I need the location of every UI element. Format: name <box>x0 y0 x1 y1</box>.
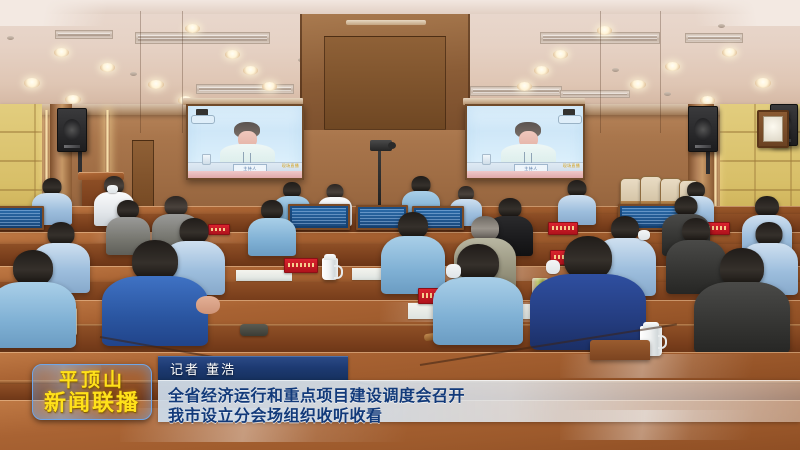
screen-bottom-band <box>467 171 583 178</box>
headline-banner: 全省经济运行和重点项目建设调度会召开 我市设立分会场组织收听收看 <box>158 380 800 422</box>
ceiling-downlight <box>243 66 258 75</box>
camera-tripod <box>378 150 381 212</box>
attendee-head <box>499 198 522 218</box>
attendee-hand <box>196 296 220 314</box>
reporter-credit-text: 记者 董浩 <box>158 359 236 378</box>
wall-panel-seam <box>600 11 601 133</box>
headline-line-2: 我市设立分会场组织收听收看 <box>168 402 383 426</box>
face-mask <box>546 260 560 274</box>
smoke-detector <box>664 92 671 96</box>
ceiling-vent <box>685 33 743 43</box>
attendee <box>692 248 792 348</box>
ceiling-downlight <box>54 48 69 57</box>
ceiling-downlight <box>148 80 164 89</box>
wall-speaker-right <box>688 106 718 152</box>
screen-microphone <box>531 153 532 163</box>
ceiling-downlight <box>534 66 549 75</box>
smoke-detector <box>130 72 137 76</box>
reporter-credit-bar: 记者 董浩 <box>158 356 348 380</box>
broadcast-frame: 主持人 现场直播 主持人 现场直播 <box>0 0 800 450</box>
chair-back[interactable] <box>590 340 650 360</box>
smoke-detector <box>718 24 725 28</box>
attendee-torso <box>694 282 790 354</box>
attendee-head <box>165 196 188 216</box>
glasses-case[interactable] <box>240 324 268 336</box>
ceiling-slant-right <box>650 0 800 26</box>
name-card <box>284 258 318 273</box>
ceiling-slant-left <box>0 0 150 26</box>
face-mask <box>107 185 118 193</box>
screen-ceiling-camera <box>563 109 575 118</box>
ceiling-downlight <box>553 50 568 59</box>
attendee-head <box>398 212 428 239</box>
screen-bottom-band <box>188 171 302 178</box>
ceiling-vent <box>196 84 294 94</box>
screen-microphone <box>243 152 244 163</box>
screen-ceiling-camera <box>196 109 208 118</box>
ceiling-downlight <box>65 95 81 104</box>
ceiling-downlight <box>630 80 646 89</box>
ceiling-downlight <box>100 63 115 72</box>
attendee-head <box>13 250 53 286</box>
projection-screen-left: 主持人 现场直播 <box>186 104 304 180</box>
attendee <box>528 236 648 344</box>
screen-microphone <box>524 152 525 163</box>
station-logo: 平顶山 新闻联播 <box>32 364 152 420</box>
center-wall-panel <box>300 14 470 130</box>
screen-microphone <box>250 153 251 163</box>
wall-panel-seam <box>140 11 141 133</box>
attendee-torso <box>0 282 76 348</box>
ceiling-downlight <box>185 24 200 33</box>
ceiling-vent <box>470 86 562 96</box>
center-panel-inner <box>324 36 446 130</box>
attendee-torso <box>102 276 208 346</box>
ceiling-downlight <box>225 50 240 59</box>
attendee-head <box>755 196 779 217</box>
ceiling-vent <box>55 30 113 39</box>
ceiling-downlight <box>517 82 532 91</box>
ceiling-downlight <box>665 62 680 71</box>
name-card <box>548 222 578 235</box>
station-logo-program: 新闻联播 <box>44 391 140 416</box>
ceiling-vent <box>135 32 270 44</box>
screen-channel-bug: 现场直播 <box>282 163 299 169</box>
wall-panel-seam <box>182 11 183 133</box>
attendee-torso <box>558 195 596 225</box>
attendee-head <box>261 200 283 220</box>
attendee <box>430 244 526 340</box>
screen-channel-bug: 现场直播 <box>563 163 580 169</box>
attendee-head <box>675 196 698 216</box>
screen-cup <box>202 154 211 165</box>
station-logo-city: 平顶山 <box>59 369 125 391</box>
ceiling-downlight <box>722 48 737 57</box>
ceiling-downlight <box>262 82 277 91</box>
attendee <box>100 240 210 340</box>
smoke-detector <box>7 36 14 40</box>
ceiling-downlight <box>755 78 771 88</box>
ceiling-vent <box>560 90 630 98</box>
screen-cup <box>482 154 491 165</box>
attendee <box>0 250 78 344</box>
smoke-detector <box>612 68 619 72</box>
wall-speaker-left <box>57 108 87 152</box>
ceiling-downlight <box>24 78 40 88</box>
camera-lens-icon <box>388 142 396 149</box>
tea-mug[interactable] <box>322 258 338 280</box>
attendee <box>246 200 298 254</box>
speaker-mount-arm <box>706 152 710 174</box>
projection-screen-right: 主持人 现场直播 <box>465 104 585 180</box>
attendee-torso <box>248 218 296 256</box>
center-panel-trim <box>346 20 426 25</box>
attendee-torso <box>433 277 523 345</box>
face-mask <box>446 264 461 278</box>
speaker-mount-arm <box>78 152 82 174</box>
wall-clock <box>757 110 789 148</box>
wall-panel-seam <box>660 11 661 133</box>
